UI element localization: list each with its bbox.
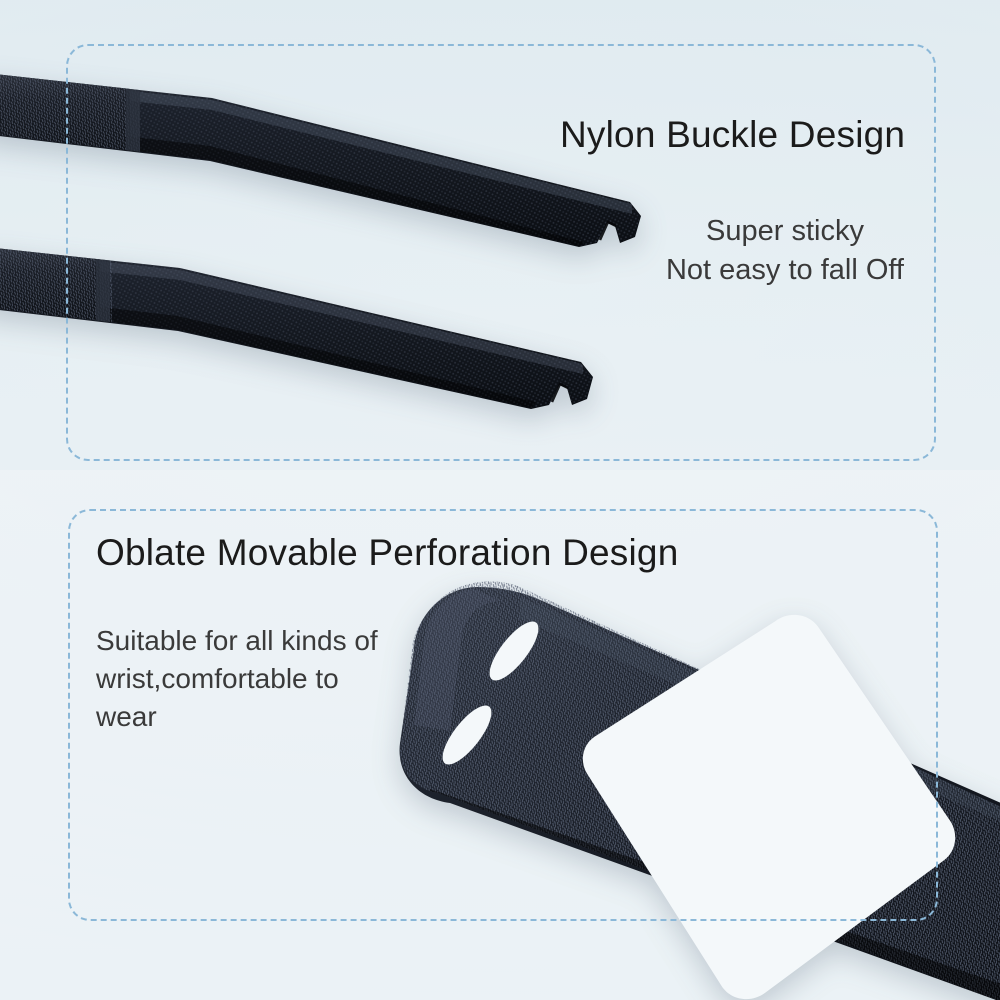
subtitle-line: Not easy to fall Off: [666, 251, 904, 290]
subtitle-line: Super sticky: [666, 212, 904, 251]
section-title-nylon-buckle: Nylon Buckle Design: [560, 114, 905, 156]
section-subtitle-nylon-buckle: Super sticky Not easy to fall Off: [666, 212, 904, 291]
section-title-oblate-perforation: Oblate Movable Perforation Design: [96, 532, 678, 574]
subtitle-line: wrist,comfortable to: [96, 660, 456, 698]
infographic-canvas: Nylon Buckle Design Super sticky Not eas…: [0, 0, 1000, 1000]
section-subtitle-oblate-perforation: Suitable for all kinds of wrist,comforta…: [96, 622, 456, 736]
subtitle-line: Suitable for all kinds of: [96, 622, 456, 660]
subtitle-line: wear: [96, 698, 456, 736]
